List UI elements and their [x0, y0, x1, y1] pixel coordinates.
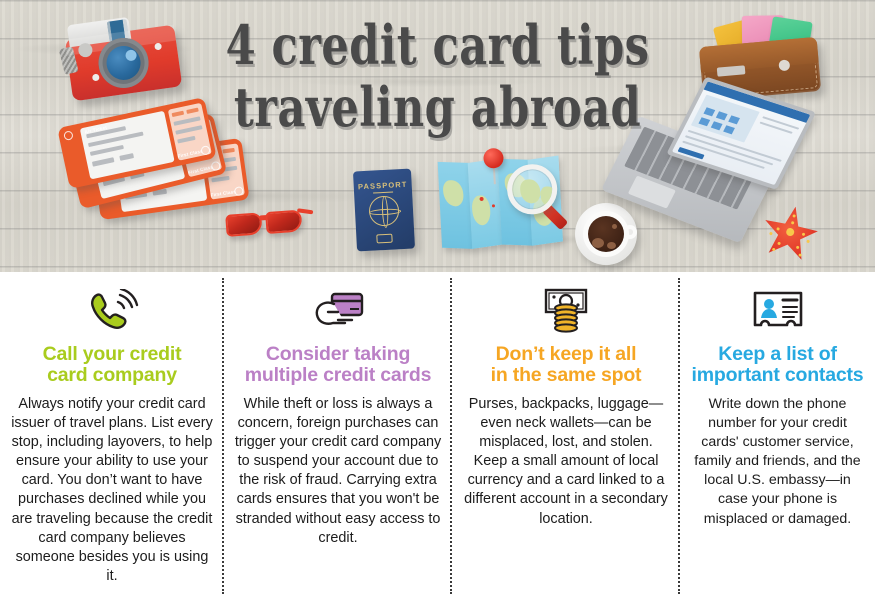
starfish-illustration	[757, 201, 823, 265]
camera-illustration	[63, 11, 183, 108]
tip-heading-4-line1: Keep a list of	[689, 344, 866, 365]
cash-and-coins-icon	[461, 286, 671, 338]
world-map-illustration	[438, 157, 563, 255]
tip-column-2: Consider taking multiple credit cards Wh…	[224, 272, 452, 600]
tip-heading-3: Don’t keep it all in the same spot	[461, 344, 671, 386]
coffee-cup-illustration	[575, 203, 637, 265]
sunglasses-illustration	[225, 205, 309, 245]
tips-columns: Call your credit card company Always not…	[0, 272, 875, 600]
magnifying-glass-icon	[506, 162, 573, 229]
tip-heading-1: Call your credit card company	[9, 344, 215, 386]
tips-panel: Call your credit card company Always not…	[0, 272, 875, 600]
tip-column-1: Call your credit card company Always not…	[0, 272, 224, 600]
tip-heading-2-line1: Consider taking	[233, 344, 443, 365]
tip-heading-4: Keep a list of important contacts	[689, 344, 866, 386]
tip-body-1: Always notify your credit card issuer of…	[9, 395, 215, 586]
passport-label: PASSPORT	[354, 180, 412, 192]
tip-heading-3-line2: in the same spot	[461, 365, 671, 386]
hand-holding-credit-card-icon	[233, 286, 443, 338]
hero-banner: Boarding Pass First Class Boarding Pass …	[0, 0, 875, 272]
tip-body-3: Purses, backpacks, luggage—even neck wal…	[461, 395, 671, 529]
infographic-page: Boarding Pass First Class Boarding Pass …	[0, 0, 875, 600]
tip-body-4: Write down the phone number for your cre…	[689, 395, 866, 529]
tip-heading-1-line2: card company	[9, 365, 215, 386]
tip-heading-1-line1: Call your credit	[9, 344, 215, 365]
tip-body-2: While theft or loss is always a concern,…	[233, 395, 443, 548]
tip-column-4: Keep a list of important contacts Write …	[680, 272, 875, 600]
tip-heading-2: Consider taking multiple credit cards	[233, 344, 443, 386]
tip-heading-4-line2: important contacts	[689, 365, 866, 386]
passport-illustration: PASSPORT	[353, 169, 415, 252]
contact-card-icon	[689, 286, 866, 338]
map-pushpin-icon	[483, 148, 505, 183]
tip-heading-3-line1: Don’t keep it all	[461, 344, 671, 365]
phone-ringing-icon	[9, 286, 215, 338]
tip-heading-2-line2: multiple credit cards	[233, 365, 443, 386]
tip-column-3: Don’t keep it all in the same spot Purse…	[452, 272, 680, 600]
